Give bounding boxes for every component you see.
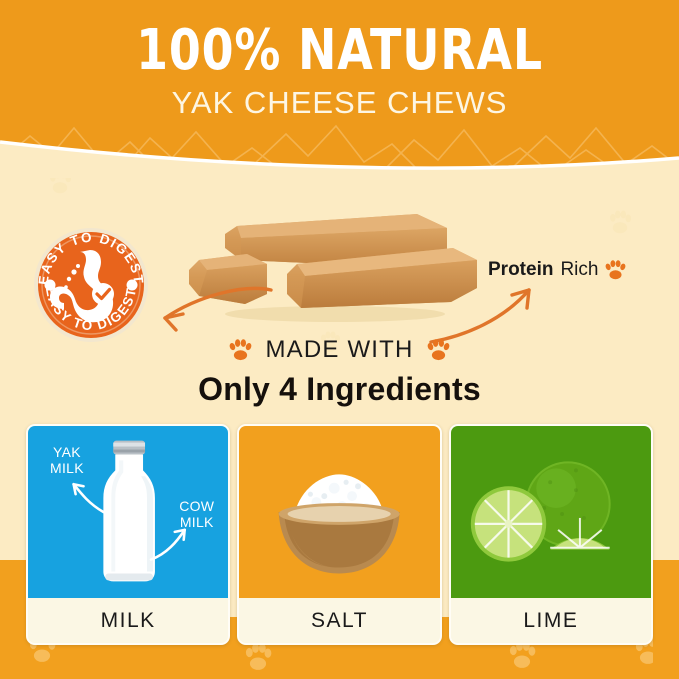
header-curve-divider [0,118,679,178]
milk-panel: YAK MILK COW MILK [28,426,228,598]
header-text-block: 100% NATURAL YAK CHEESE CHEWS [0,0,679,121]
yak-milk-arrow-icon [74,484,104,512]
made-with-label: MADE WITH [265,336,413,364]
salt-bowl-icon [279,474,400,573]
lime-fruit-icon [470,462,609,561]
page-title: 100% NATURAL [61,21,618,81]
arrow-to-badge-icon [143,278,278,340]
paw-print-icon [605,260,626,280]
protein-label-regular: Rich [560,258,598,282]
ingredient-label-milk: MILK [28,598,228,643]
protein-rich-claim: Protein Rich [488,258,626,282]
salt-panel [239,426,439,598]
header-banner: 100% NATURAL YAK CHEESE CHEWS [0,0,679,178]
paw-print-icon [229,339,252,361]
infographic-root: 100% NATURAL YAK CHEESE CHEWS [0,0,679,679]
cow-milk-arrow-icon [151,530,185,560]
ingredient-label-lime: LIME [451,598,651,643]
ingredient-card-salt[interactable]: SALT [237,424,441,645]
protein-label-bold: Protein [488,258,553,282]
ingredients-heading: Only 4 Ingredients [0,369,679,409]
right-frame-edge [653,560,679,679]
easy-to-digest-badge: EASY TO DIGEST EASY TO DIGEST [28,222,154,348]
cow-milk-note: COW MILK [179,498,214,530]
left-frame-edge [0,560,26,679]
ingredient-card-list: YAK MILK COW MILK MILK [26,424,653,645]
lime-panel [451,426,651,598]
ingredient-label-salt: SALT [239,598,439,643]
yak-milk-note: YAK MILK [50,444,84,476]
ingredient-card-milk[interactable]: YAK MILK COW MILK MILK [26,424,230,645]
milk-bottle-icon [103,441,155,582]
ingredient-card-lime[interactable]: LIME [449,424,653,645]
made-with-block: MADE WITH [0,336,679,366]
paw-print-icon [427,339,450,361]
page-subtitle: YAK CHEESE CHEWS [0,85,679,121]
